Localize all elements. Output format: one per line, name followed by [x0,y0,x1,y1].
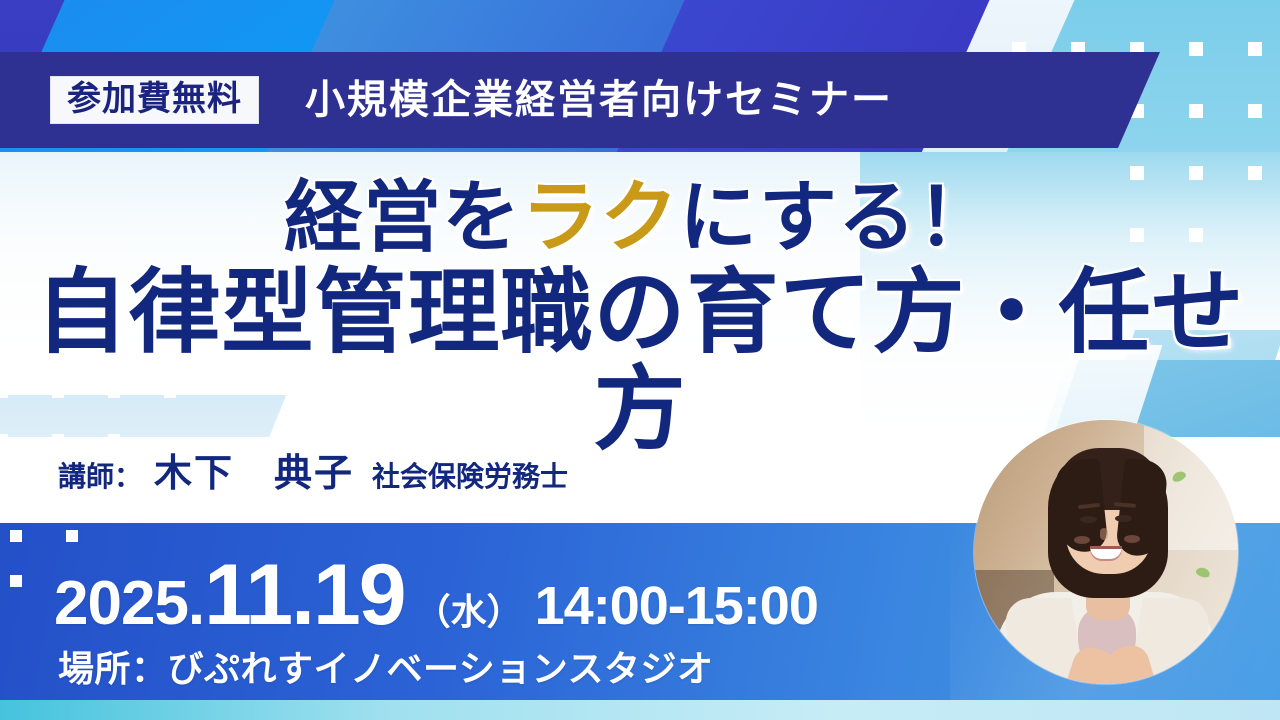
dot [1248,42,1262,56]
dot [66,530,78,542]
date-time-line: 2025.11.19（水）14:00-15:00 [54,552,818,639]
speaker-name: 木下 典子 [154,453,354,495]
portrait-nose [1100,528,1108,540]
dot [1189,42,1203,56]
dot [10,530,22,542]
dot-grid-bottom-left [10,530,78,542]
portrait-eye [1080,516,1097,523]
bottom-cyan-strip [0,700,1280,720]
portrait-cheek [1074,536,1090,544]
venue-line: 場所：びぷれすイノベーションスタジオ [58,640,714,692]
free-admission-badge: 参加費無料 [50,76,259,124]
dot [1248,104,1262,118]
header-band: 参加費無料 小規模企業経営者向けセミナー [0,52,1160,148]
dot [10,575,22,587]
speaker-role: 社会保険労務士 [372,461,568,492]
event-time: 14:00-15:00 [535,575,818,637]
dot-grid-bottom-left-2 [10,575,22,587]
title-line-1: 経営をラクにする！ [0,176,1280,259]
title-line-1-pre: 経営を [284,173,521,261]
title-line-1-post: にする！ [679,173,996,261]
portrait-cheek [1124,535,1140,543]
main-title-block: 経営をラクにする！ 自律型管理職の育て方・任せ方 [0,176,1280,460]
seminar-banner: 参加費無料 小規模企業経営者向けセミナー 経営をラクにする！ 自律型管理職の育て… [0,0,1280,720]
event-weekday: （水） [415,583,523,635]
portrait-eye [1115,515,1132,522]
header-subtitle: 小規模企業経営者向けセミナー [305,80,893,120]
speaker-label: 講師： [58,461,142,492]
event-month-day: 11.19 [204,552,404,638]
event-year: 2025. [54,568,204,639]
title-accent-word: ラク [521,173,679,261]
dot [1189,104,1203,118]
speaker-portrait-photo [974,420,1238,684]
speaker-line: 講師：木下 典子社会保険労務士 [58,455,568,493]
